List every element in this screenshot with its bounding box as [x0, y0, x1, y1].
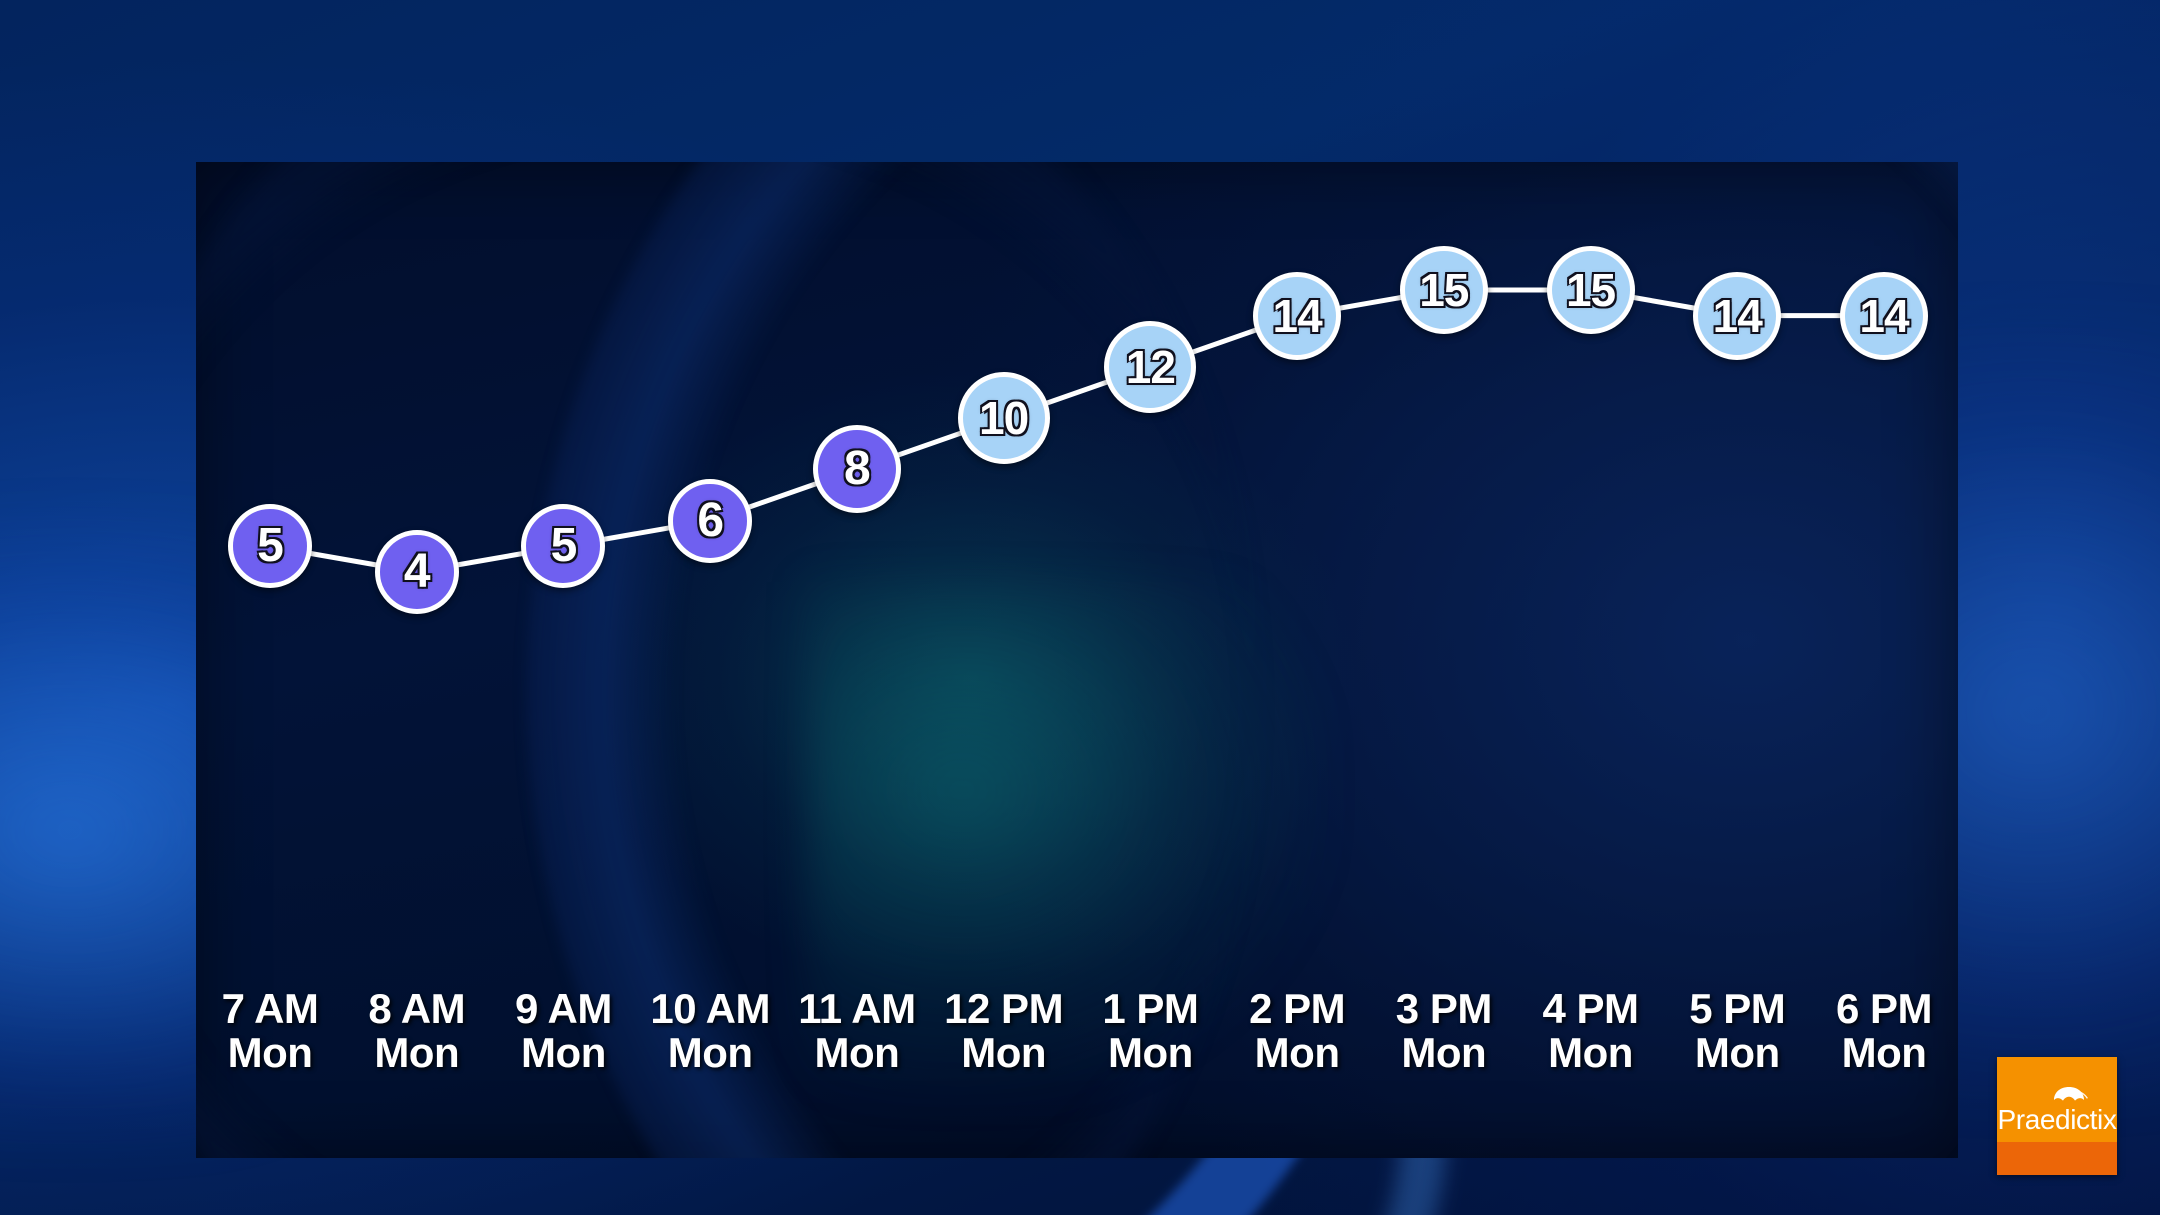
data-point[interactable]: 14 [1253, 272, 1341, 360]
data-point-value: 10 [979, 395, 1028, 441]
data-point-value: 14 [1272, 293, 1321, 339]
broadcast-graphic: 5456810121415151414 7 AMMon8 AMMon9 AMMo… [0, 0, 2160, 1215]
data-point-value: 15 [1566, 267, 1615, 313]
data-point[interactable]: 14 [1840, 272, 1928, 360]
x-axis-day: Mon [1774, 1031, 1958, 1075]
data-point[interactable]: 15 [1400, 246, 1488, 334]
chart-panel: 5456810121415151414 7 AMMon8 AMMon9 AMMo… [196, 162, 1958, 1158]
data-point[interactable]: 5 [521, 504, 605, 588]
data-point[interactable]: 15 [1547, 246, 1635, 334]
data-point-value: 15 [1419, 267, 1468, 313]
data-point[interactable]: 14 [1693, 272, 1781, 360]
data-point-value: 5 [257, 522, 283, 570]
data-point[interactable]: 12 [1104, 321, 1196, 413]
data-point-value: 14 [1713, 293, 1762, 339]
data-point-value: 12 [1126, 344, 1175, 390]
data-point-value: 4 [404, 548, 430, 596]
data-point[interactable]: 4 [375, 530, 459, 614]
data-point[interactable]: 6 [668, 479, 752, 563]
x-axis-label: 6 PMMon [1774, 987, 1958, 1075]
praedictix-logo: Praedictix [1997, 1057, 2117, 1175]
logo-wordmark: Praedictix [1997, 1104, 2117, 1136]
data-point-value: 14 [1859, 293, 1908, 339]
data-point-value: 6 [697, 497, 723, 545]
data-point-value: 8 [844, 445, 870, 493]
data-point-value: 5 [551, 522, 577, 570]
data-point[interactable]: 10 [958, 372, 1050, 464]
data-point[interactable]: 8 [813, 425, 901, 513]
x-axis-time: 6 PM [1774, 987, 1958, 1031]
data-point[interactable]: 5 [228, 504, 312, 588]
